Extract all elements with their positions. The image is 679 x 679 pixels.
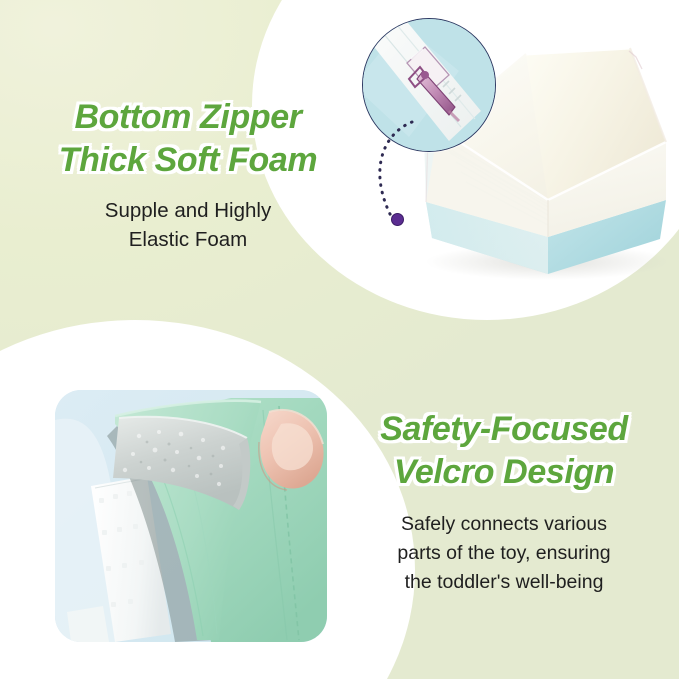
bottom-zipper-subcopy-line1: Supple and Highly (18, 196, 358, 225)
feature-graphic-canvas: Bottom Zipper Thick Soft Foam Supple and… (0, 0, 679, 679)
bottom-zipper-headline-line1: Bottom Zipper (18, 96, 358, 139)
bottom-zipper-text-block: Bottom Zipper Thick Soft Foam Supple and… (18, 96, 358, 254)
velcro-illustration (55, 390, 327, 642)
velcro-subcopy-line3: the toddler's well-being (336, 568, 672, 597)
velcro-detail-photo (55, 390, 327, 642)
bottom-zipper-subcopy-line2: Elastic Foam (18, 225, 358, 254)
velcro-design-text-block: Safety-Focused Velcro Design Safely conn… (336, 408, 672, 597)
velcro-subcopy: Safely connects various parts of the toy… (336, 510, 672, 598)
velcro-subcopy-line2: parts of the toy, ensuring (336, 539, 672, 568)
velcro-subcopy-line1: Safely connects various (336, 510, 672, 539)
velcro-headline-line2: Velcro Design (336, 451, 672, 494)
dotted-leader-line-icon (360, 120, 420, 230)
leader-endpoint-dot-icon (391, 213, 404, 226)
bottom-zipper-headline-line2: Thick Soft Foam (18, 139, 358, 182)
velcro-headline-line1: Safety-Focused (336, 408, 672, 451)
bottom-zipper-subcopy: Supple and Highly Elastic Foam (18, 196, 358, 254)
